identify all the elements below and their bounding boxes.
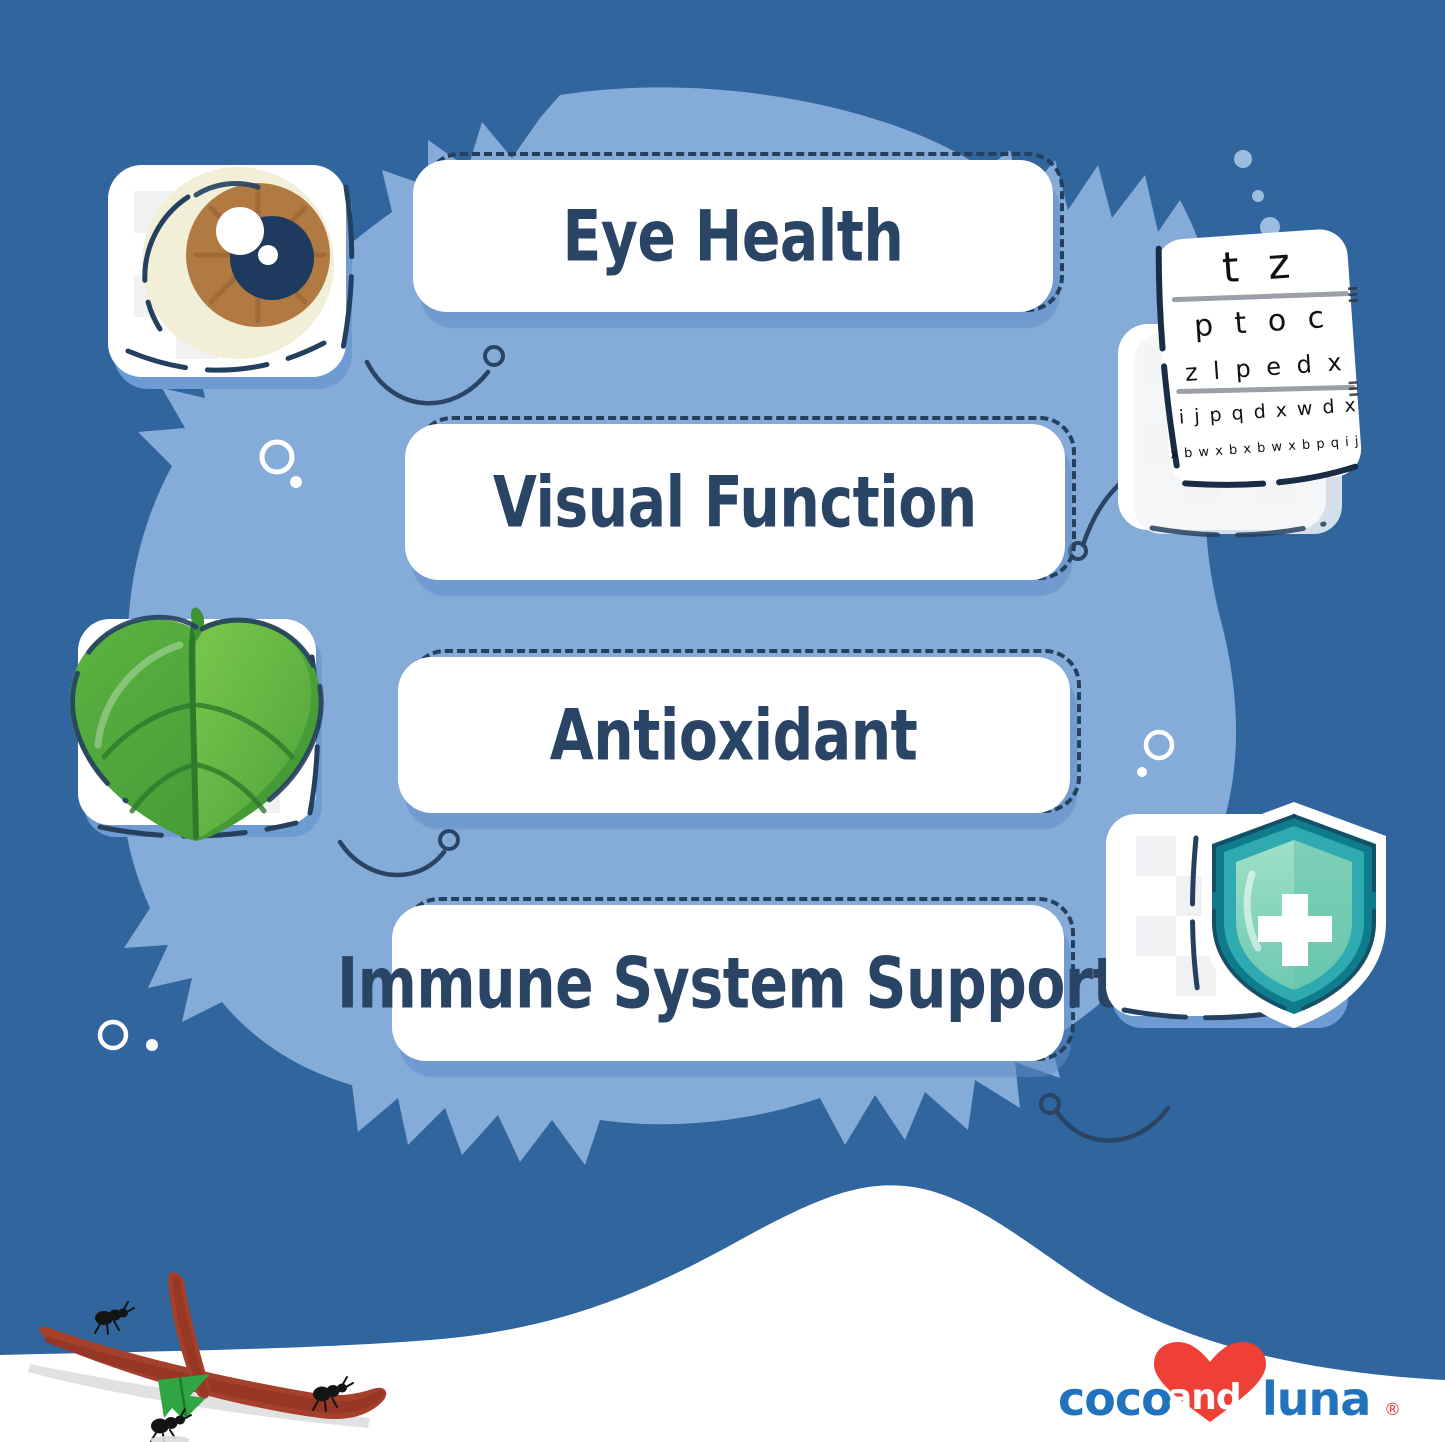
- benefit-pill-immune-support[interactable]: Immune System Support: [392, 905, 1064, 1061]
- eye-chart-icon-card: t z p t o c z l p e d x i j p q d x w d …: [1108, 228, 1388, 568]
- logo-word-and: and: [1168, 1380, 1241, 1416]
- benefit-label: Antioxidant: [550, 700, 918, 771]
- leaf-icon-card: [62, 605, 344, 855]
- benefit-label: Immune System Support: [337, 948, 1119, 1019]
- logo-word-coco: coco: [1058, 1376, 1172, 1422]
- eyeball-icon-card: [100, 155, 375, 410]
- infographic-canvas: Eye Health Visual Function Antioxidant I…: [0, 0, 1445, 1442]
- brand-logo[interactable]: coco and luna ®: [1058, 1338, 1398, 1430]
- shield-icon-card: [1096, 798, 1394, 1050]
- registered-trademark-mark: ®: [1384, 1400, 1401, 1420]
- eyeball-graphic: [142, 167, 334, 359]
- ant-icon: [95, 1302, 134, 1334]
- benefit-pill-antioxidant[interactable]: Antioxidant: [398, 657, 1070, 813]
- benefit-label: Eye Health: [563, 201, 904, 272]
- eye-chart-row: t z: [1221, 238, 1300, 292]
- branch-with-ants-decoration: [20, 1268, 440, 1442]
- benefit-label: Visual Function: [493, 467, 977, 538]
- logo-word-luna: luna: [1262, 1376, 1370, 1422]
- benefit-pill-eye-health[interactable]: Eye Health: [413, 160, 1053, 312]
- benefit-pill-visual-function[interactable]: Visual Function: [405, 424, 1065, 580]
